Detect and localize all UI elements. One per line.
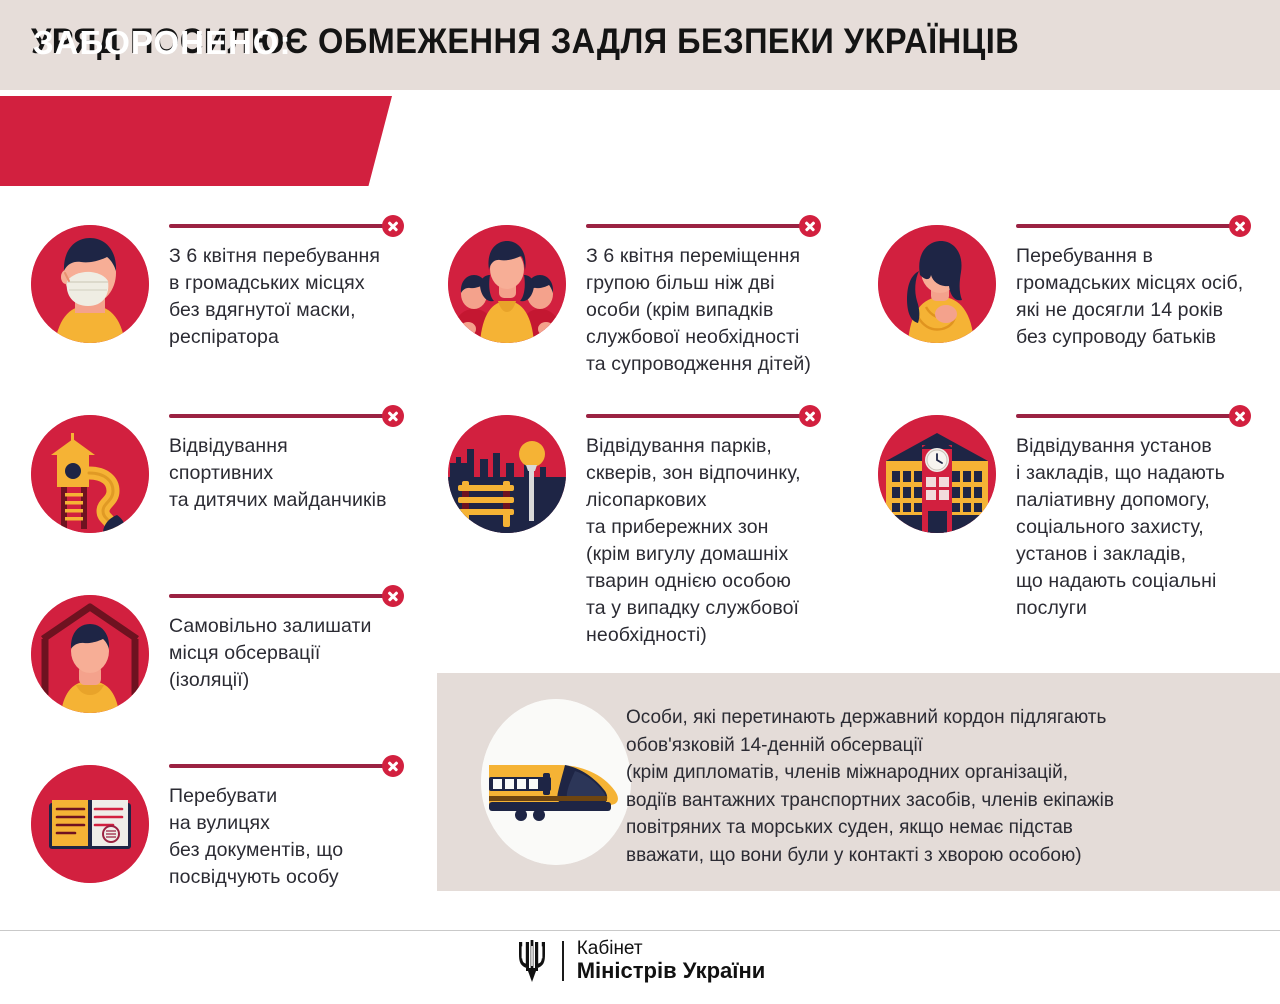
list-item-label: Відвідування спортивних та дитячих майда…	[169, 433, 431, 514]
list-item-body: Перебувати на вулицях без документів, що…	[169, 755, 431, 891]
prohibited-banner-label: ЗАБОРОНЕНО:	[33, 24, 291, 62]
prohibition-x-icon	[382, 405, 404, 427]
rule-line	[1016, 224, 1238, 228]
list-item-body: Відвідування спортивних та дитячих майда…	[169, 405, 431, 514]
prohibition-x-icon	[382, 215, 404, 237]
rule-line	[169, 224, 391, 228]
rule-line	[169, 594, 391, 598]
callout-label: Особи, які перетинають державний кордон …	[626, 704, 1256, 869]
infographic-page: УРЯД ПОСИЛЮЄ ОБМЕЖЕННЯ ЗАДЛЯ БЕЗПЕКИ УКР…	[0, 0, 1280, 1004]
list-item-label: Перебування в громадських місцях осіб, я…	[1016, 243, 1280, 351]
list-item-label: Перебувати на вулицях без документів, що…	[169, 783, 431, 891]
person-under-roof-icon	[31, 595, 149, 713]
prohibition-x-icon	[799, 405, 821, 427]
footer-line-1: Кабінет	[577, 939, 766, 960]
list-item-body: З 6 квітня переміщення групою більш ніж …	[586, 215, 851, 378]
prohibition-x-icon	[382, 755, 404, 777]
rule-line	[586, 224, 808, 228]
list-item-body: Відвідування установ і закладів, що нада…	[1016, 405, 1280, 622]
item-rule	[1016, 405, 1280, 427]
list-item-body: Перебування в громадських місцях осіб, я…	[1016, 215, 1280, 351]
park-bench-lamp-icon	[448, 415, 566, 533]
prohibition-x-icon	[1229, 405, 1251, 427]
group-of-people-icon	[448, 225, 566, 343]
prohibition-x-icon	[1229, 215, 1251, 237]
rule-line	[169, 764, 391, 768]
rule-line	[169, 414, 391, 418]
prohibition-x-icon	[799, 215, 821, 237]
list-item-label: Відвідування установ і закладів, що нада…	[1016, 433, 1280, 622]
playground-icon	[31, 415, 149, 533]
high-speed-train-icon	[481, 699, 631, 865]
item-rule	[169, 215, 431, 237]
footer-text: Кабінет Міністрів України	[577, 939, 766, 983]
footer-divider	[0, 930, 1280, 931]
list-item-body: Відвідування парків, скверів, зон відпоч…	[586, 405, 866, 649]
item-rule	[1016, 215, 1280, 237]
list-item-body: Самовільно залишати місця обсервації (із…	[169, 585, 431, 694]
prohibited-banner	[0, 96, 392, 186]
item-rule	[586, 215, 851, 237]
footer-line-2: Міністрів України	[577, 959, 766, 983]
item-rule	[169, 585, 431, 607]
list-item-body: З 6 квітня перебування в громадських міс…	[169, 215, 431, 351]
masked-man-icon	[31, 225, 149, 343]
list-item-label: Відвідування парків, скверів, зон відпоч…	[586, 433, 866, 649]
item-rule	[169, 755, 431, 777]
passport-document-icon	[31, 765, 149, 883]
prohibition-x-icon	[382, 585, 404, 607]
rule-line	[1016, 414, 1238, 418]
list-item-label: Самовільно залишати місця обсервації (із…	[169, 613, 431, 694]
footer-separator	[562, 941, 564, 981]
institution-building-icon	[878, 415, 996, 533]
border-crossing-callout: Особи, які перетинають державний кордон …	[437, 673, 1280, 891]
item-rule	[586, 405, 866, 427]
footer: Кабінет Міністрів України	[0, 938, 1280, 984]
young-girl-icon	[878, 225, 996, 343]
ukraine-tryzub-icon	[515, 938, 549, 984]
list-item-label: З 6 квітня переміщення групою більш ніж …	[586, 243, 851, 378]
rule-line	[586, 414, 808, 418]
list-item-label: З 6 квітня перебування в громадських міс…	[169, 243, 431, 351]
item-rule	[169, 405, 431, 427]
